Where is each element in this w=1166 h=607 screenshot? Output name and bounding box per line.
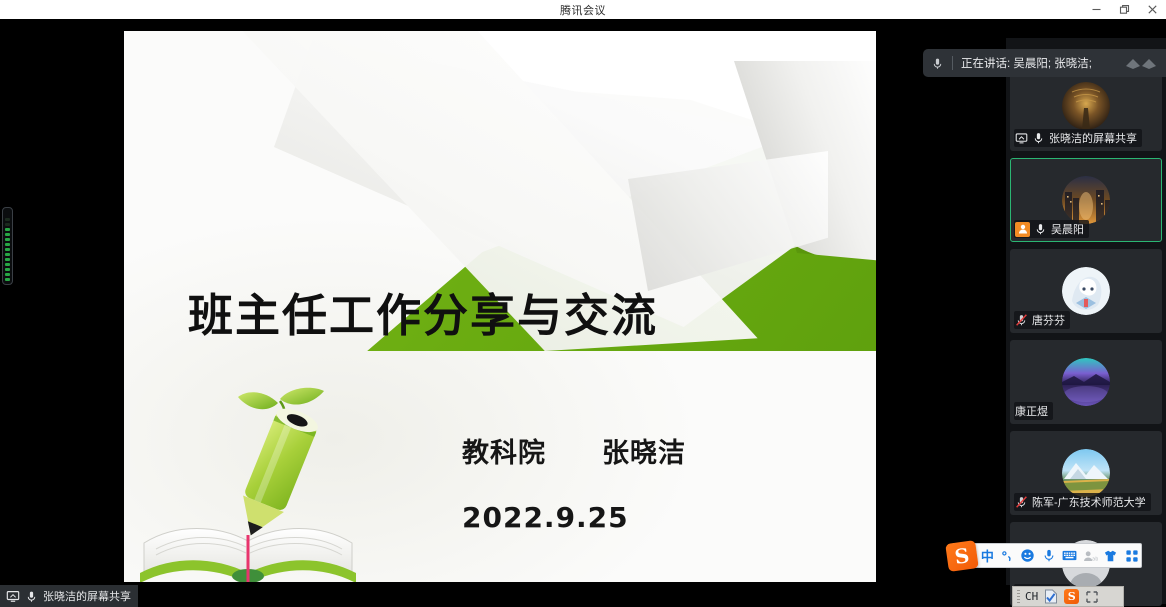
avatar xyxy=(1062,82,1110,130)
share-bar-label: 张晓洁的屏幕共享 xyxy=(43,588,131,604)
ime-soft-keyboard-button[interactable] xyxy=(1060,545,1079,567)
ime-language-mode-button[interactable]: 中 xyxy=(979,545,996,567)
avatar xyxy=(1062,358,1110,406)
meeting-stage: 班主任工作分享与交流 教科院 张晓洁 2022.9.25 xyxy=(0,19,1166,585)
audio-level-meter xyxy=(2,207,13,285)
ime-emoji-button[interactable] xyxy=(1019,545,1038,567)
avatar xyxy=(1062,449,1110,497)
screen-share-icon xyxy=(1015,131,1028,145)
ime-user-button[interactable]: ab xyxy=(1081,545,1100,567)
avatar xyxy=(1062,176,1110,224)
participant-nametag: 陈军-广东技术师范大学 xyxy=(1014,493,1151,511)
participant-tile[interactable]: 康正煜 xyxy=(1010,340,1162,424)
participant-name: 陈军-广东技术师范大学 xyxy=(1032,494,1146,510)
shared-screen-content: 班主任工作分享与交流 教科院 张晓洁 2022.9.25 xyxy=(124,31,876,582)
participant-rail[interactable]: 张晓洁的屏幕共享 xyxy=(1006,38,1166,604)
participant-name: 吴晨阳 xyxy=(1051,221,1084,237)
ime-punctuation-toggle[interactable] xyxy=(998,545,1017,567)
participant-tile[interactable]: 张晓洁的屏幕共享 xyxy=(1010,67,1162,151)
close-button[interactable] xyxy=(1138,0,1166,19)
ime-skin-button[interactable] xyxy=(1102,545,1121,567)
participant-name: 康正煜 xyxy=(1015,403,1048,419)
sogou-logo-icon[interactable]: S xyxy=(1064,589,1079,604)
windows-language-bar[interactable]: CH S xyxy=(1012,586,1124,607)
minimize-button[interactable] xyxy=(1082,0,1110,19)
window-title: 腾讯会议 xyxy=(560,2,606,18)
participant-name: 张晓洁的屏幕共享 xyxy=(1049,130,1137,146)
language-indicator[interactable]: CH xyxy=(1025,590,1038,603)
participant-nametag: 吴晨阳 xyxy=(1014,220,1089,238)
participant-tile[interactable]: 陈军-广东技术师范大学 xyxy=(1010,431,1162,515)
active-speaker-toast[interactable]: 正在讲话: 吴晨阳; 张晓洁; xyxy=(923,49,1166,77)
window-controls xyxy=(1082,0,1166,19)
participant-nametag: 唐芬芬 xyxy=(1014,311,1070,329)
toast-divider xyxy=(952,56,953,70)
language-bar-grip[interactable] xyxy=(1017,590,1020,603)
sogou-ime-toolbar[interactable]: S 中 xyxy=(952,543,1142,568)
microphone-muted-icon xyxy=(1015,313,1028,327)
restore-language-bar-icon[interactable] xyxy=(1084,589,1100,605)
ime-toolbox-button[interactable] xyxy=(1122,545,1141,567)
participant-nametag: 康正煜 xyxy=(1014,402,1053,420)
host-badge-icon xyxy=(1015,222,1030,237)
microphone-icon[interactable] xyxy=(25,589,38,604)
chevrons-collapse-icon[interactable] xyxy=(1124,56,1158,70)
screen-share-icon xyxy=(6,589,20,603)
microphone-icon xyxy=(1034,222,1047,236)
participant-tile[interactable]: 唐芬芬 xyxy=(1010,249,1162,333)
slide-date: 2022.9.25 xyxy=(462,501,629,534)
active-speaker-text: 正在讲话: 吴晨阳; 张晓洁; xyxy=(961,55,1092,71)
ime-status-doc-icon[interactable] xyxy=(1043,589,1059,605)
ime-voice-input-button[interactable] xyxy=(1039,545,1058,567)
svg-text:ab: ab xyxy=(1092,556,1098,562)
slide-title: 班主任工作分享与交流 xyxy=(188,279,808,344)
avatar xyxy=(1062,267,1110,315)
screen-share-status-bar[interactable]: 张晓洁的屏幕共享 xyxy=(0,585,138,607)
book-and-pencil-illustration xyxy=(130,383,380,582)
bottom-filler xyxy=(138,585,1010,607)
sogou-logo-icon[interactable]: S xyxy=(945,540,979,572)
microphone-muted-icon xyxy=(1015,495,1028,509)
window-title-bar: 腾讯会议 xyxy=(0,0,1166,19)
microphone-icon xyxy=(1032,131,1045,145)
microphone-icon xyxy=(931,56,944,71)
slide-author: 教科院 张晓洁 xyxy=(462,431,686,470)
participant-nametag: 张晓洁的屏幕共享 xyxy=(1014,129,1142,147)
participant-tile[interactable]: 吴晨阳 xyxy=(1010,158,1162,242)
restore-button[interactable] xyxy=(1110,0,1138,19)
participant-name: 唐芬芬 xyxy=(1032,312,1065,328)
